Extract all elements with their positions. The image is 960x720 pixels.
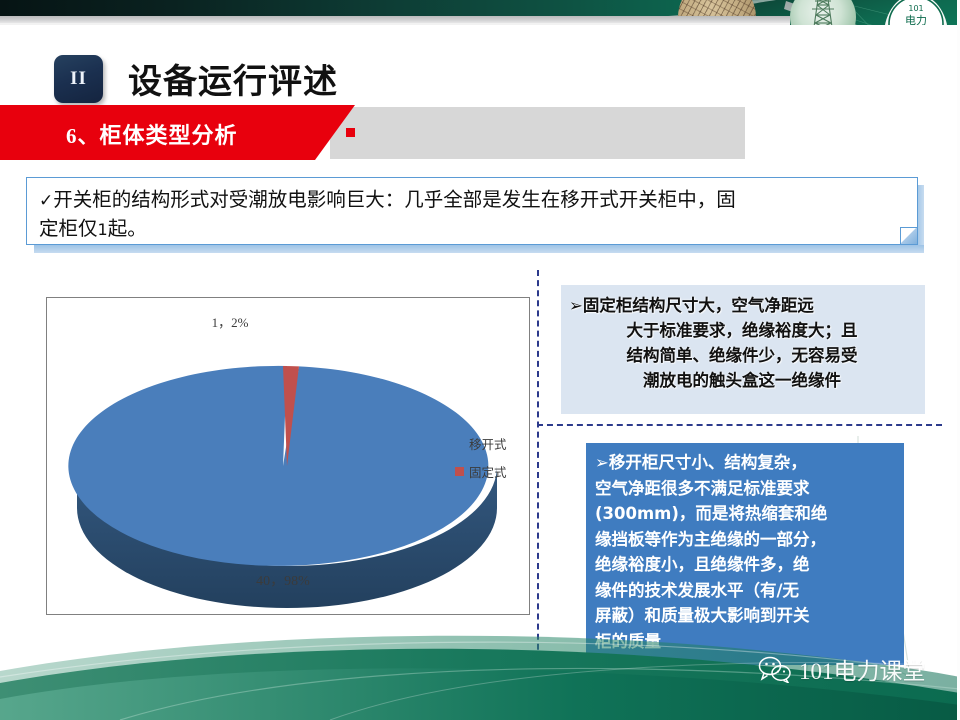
note-fixed-line-3: 结构简单、绝缘件少，无容易受 bbox=[569, 343, 915, 368]
callout-shadow-bottom bbox=[34, 245, 924, 253]
legend-swatch-removable bbox=[455, 439, 464, 448]
section-number: 6、 bbox=[66, 124, 100, 148]
legend-label-fixed: 固定式 bbox=[469, 462, 507, 481]
chart-legend: 移开式 固定式 bbox=[455, 434, 507, 490]
section-label: 柜体类型分析 bbox=[100, 124, 238, 149]
summary-callout: ✓开关柜的结构形式对受潮放电影响巨大：几乎全部是发生在移开式开关柜中，固 定柜仅… bbox=[26, 177, 918, 245]
pie-label-fixed: 1，2% bbox=[185, 312, 275, 331]
note-fixed-line-2: 大于标准要求，绝缘裕度大；且 bbox=[569, 318, 915, 343]
pie-label-removable: 40，98% bbox=[228, 570, 338, 590]
title-zone: II 设备运行评述 bbox=[0, 25, 960, 97]
pie-slice-removable bbox=[68, 366, 488, 566]
check-icon: ✓ bbox=[39, 191, 53, 211]
legend-item-removable: 移开式 bbox=[455, 434, 507, 453]
note-fixed-line-4: 潮放电的触头盒这一绝缘件 bbox=[569, 368, 915, 393]
section-banner-text: 6、柜体类型分析 bbox=[66, 118, 238, 150]
wechat-icon bbox=[758, 655, 792, 683]
chapter-badge-label: II bbox=[70, 68, 87, 90]
header-gray-rule bbox=[0, 16, 790, 23]
bullet-arrow-icon-2: ➢ bbox=[595, 453, 609, 472]
note-removable-line-5: 绝缘裕度小，且绝缘件多，绝 bbox=[595, 552, 895, 578]
note-box-removable-text: ➢移开柜尺寸小、结构复杂， 空气净距很多不满足标准要求 (300mm)，而是将热… bbox=[586, 443, 904, 654]
page-title: 设备运行评述 bbox=[128, 54, 338, 102]
bullet-arrow-icon: ➢ bbox=[569, 296, 583, 315]
callout-line-2-num: 1 bbox=[98, 220, 108, 239]
channel-watermark-text: 101电力课堂 bbox=[799, 652, 926, 686]
section-gray-bar bbox=[330, 107, 745, 159]
callout-line-2b: 起。 bbox=[108, 217, 147, 240]
note-box-fixed-cabinet: ➢固定柜结构尺寸大，空气净距远 大于标准要求，绝缘裕度大；且 结构简单、绝缘件少… bbox=[561, 285, 925, 414]
note-removable-line-4: 缘挡板等作为主绝缘的一部分， bbox=[595, 527, 895, 553]
legend-swatch-fixed bbox=[455, 467, 464, 476]
note-removable-line-6: 缘件的技术发展水平（有/无 bbox=[595, 578, 895, 604]
dashed-divider-vertical bbox=[537, 270, 539, 670]
callout-line-1: 开关柜的结构形式对受潮放电影响巨大：几乎全部是发生在移开式开关柜中，固 bbox=[53, 188, 736, 211]
callout-line-2a: 定柜仅 bbox=[39, 217, 98, 240]
note-fixed-line-1-wrap: ➢固定柜结构尺寸大，空气净距远 bbox=[569, 293, 915, 318]
note-fixed-line-1: 固定柜结构尺寸大，空气净距远 bbox=[583, 296, 814, 315]
dashed-divider-horizontal bbox=[537, 424, 942, 426]
section-bullet-square bbox=[346, 128, 355, 137]
note-box-fixed-text: ➢固定柜结构尺寸大，空气净距远 大于标准要求，绝缘裕度大；且 结构简单、绝缘件少… bbox=[561, 285, 925, 393]
slide-root: 101 电力 课堂 II 设备运行评述 6、柜体类型 bbox=[0, 0, 960, 720]
callout-fold-corner bbox=[900, 227, 917, 244]
legend-item-fixed: 固定式 bbox=[455, 462, 507, 481]
legend-label-removable: 移开式 bbox=[469, 434, 507, 453]
note-removable-line-3: (300mm)，而是将热缩套和绝 bbox=[595, 501, 895, 527]
note-removable-line-1-wrap: ➢移开柜尺寸小、结构复杂， bbox=[595, 450, 895, 476]
note-removable-line-1: 移开柜尺寸小、结构复杂， bbox=[609, 453, 807, 472]
svg-text:101: 101 bbox=[908, 4, 923, 13]
note-removable-line-2: 空气净距很多不满足标准要求 bbox=[595, 476, 895, 502]
channel-watermark: 101电力课堂 bbox=[758, 652, 926, 686]
chapter-badge: II bbox=[54, 55, 103, 103]
summary-callout-text: ✓开关柜的结构形式对受潮放电影响巨大：几乎全部是发生在移开式开关柜中，固 定柜仅… bbox=[39, 186, 901, 244]
